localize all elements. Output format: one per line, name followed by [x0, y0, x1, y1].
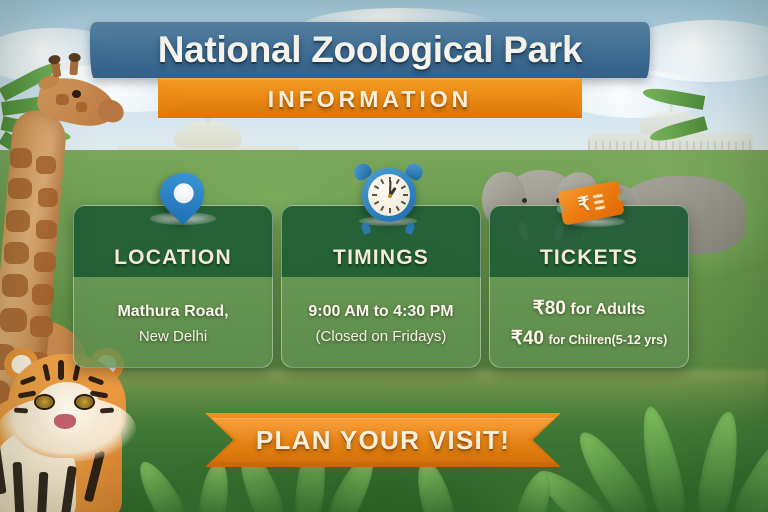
ticket-price-child: ₹40	[511, 328, 544, 349]
ticket-rupee-glyph: ₹	[576, 192, 592, 217]
ticket-label-adult: for Adults	[570, 301, 645, 318]
info-card-location[interactable]: LOCATION Mathura Road, New Delhi	[73, 205, 273, 368]
timings-closed-note: (Closed on Fridays)	[316, 328, 447, 345]
card-body: 9:00 AM to 4:30 PM (Closed on Fridays)	[282, 278, 480, 368]
ticket-price-child-row: ₹40 for Chilren(5-12 yrs)	[511, 327, 667, 350]
subtitle-ribbon: INFORMATION	[158, 78, 582, 118]
ticket-price-adult: ₹80	[533, 298, 566, 319]
ticket-price-adult-row: ₹80 for Adults	[533, 297, 646, 320]
card-title-timings: TIMINGS	[333, 246, 429, 270]
ticket-icon: ₹	[560, 186, 634, 228]
ticket-stub-lines	[594, 199, 604, 204]
card-body: ₹80 for Adults ₹40 for Chilren(5-12 yrs)	[490, 278, 688, 368]
infographic-poster: National Zoological Park INFORMATION LOC…	[0, 0, 768, 512]
ticket-label-child: for Chilren(5-12 yrs)	[548, 333, 667, 347]
card-title-tickets: TICKETS	[540, 246, 638, 270]
info-card-tickets[interactable]: TICKETS ₹80 for Adults ₹40 for Chilren(5…	[489, 205, 689, 368]
title-banner: National Zoological Park	[90, 22, 650, 78]
page-title: National Zoological Park	[158, 29, 583, 71]
location-line-1: Mathura Road,	[117, 303, 228, 321]
timings-hours: 9:00 AM to 4:30 PM	[308, 303, 453, 321]
alarm-clock-icon	[354, 166, 426, 228]
card-title-location: LOCATION	[114, 246, 232, 270]
card-body: Mathura Road, New Delhi	[74, 278, 272, 368]
page-subtitle: INFORMATION	[268, 86, 473, 113]
map-pin-icon	[150, 170, 216, 226]
cta-label: PLAN YOUR VISIT!	[256, 425, 510, 456]
location-line-2: New Delhi	[139, 328, 207, 345]
info-card-timings[interactable]: TIMINGS 9:00 AM to 4:30 PM (Closed on Fr…	[281, 205, 481, 368]
plan-your-visit-button[interactable]: PLAN YOUR VISIT!	[211, 418, 555, 462]
